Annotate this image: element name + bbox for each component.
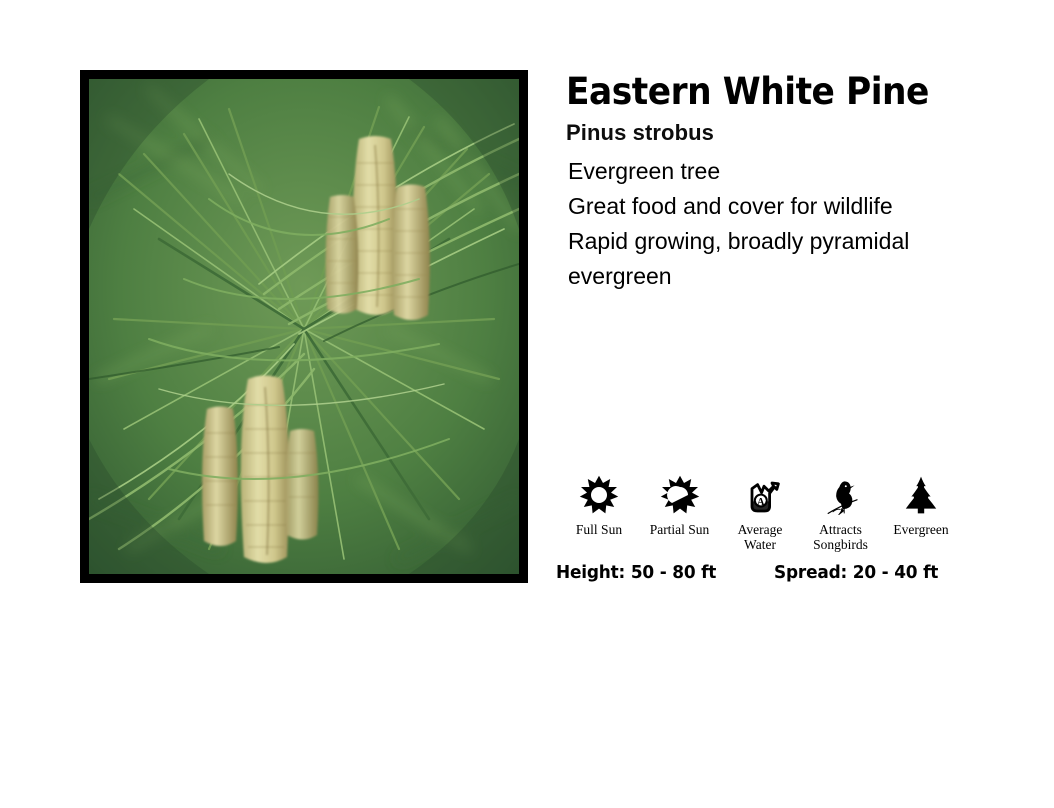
attribute-average-water: A A Average Water	[721, 472, 799, 552]
attribute-attracts-songbirds: Attracts Songbirds	[802, 472, 880, 552]
spread-value: Spread: 20 - 40 ft	[774, 562, 938, 583]
feature-item: ◆ Rapid growing, broadly pyramidal everg…	[566, 224, 996, 294]
feature-text: Long soft, green needles	[568, 298, 821, 302]
feature-item: ◆ Great food and cover for wildlife	[566, 189, 996, 224]
attribute-label: Partial Sun	[650, 522, 710, 537]
average-water-icon: A A	[740, 472, 780, 518]
feature-item: ◆ Evergreen tree	[566, 154, 996, 189]
attracts-songbirds-icon	[821, 472, 861, 518]
plant-common-name: Eastern White Pine	[566, 70, 966, 114]
plant-feature-list: ◆ Evergreen tree ◆ Great food and cover …	[566, 154, 996, 302]
attribute-evergreen: Evergreen	[882, 472, 960, 537]
feature-text: Rapid growing, broadly pyramidal evergre…	[568, 228, 909, 289]
plant-attribute-row: Full Sun Partial Sun A A Average Water	[560, 472, 960, 552]
plant-photo	[89, 79, 519, 574]
plant-info-panel: Eastern White Pine Pinus strobus ◆ Everg…	[566, 70, 996, 302]
evergreen-icon	[901, 472, 941, 518]
plant-botanical-name: Pinus strobus	[566, 118, 996, 148]
partial-sun-icon	[660, 472, 700, 518]
attribute-partial-sun: Partial Sun	[641, 472, 719, 537]
feature-text: Great food and cover for wildlife	[568, 193, 893, 219]
svg-text:A: A	[757, 497, 765, 508]
height-value: Height: 50 - 80 ft	[556, 562, 716, 583]
feature-text: Evergreen tree	[568, 158, 720, 184]
attribute-full-sun: Full Sun	[560, 472, 638, 537]
full-sun-icon	[579, 472, 619, 518]
attribute-label: Evergreen	[893, 522, 948, 537]
attribute-label: Average Water	[721, 522, 799, 552]
attribute-label: Attracts Songbirds	[813, 522, 868, 552]
feature-item: ◆ Long soft, green needles	[566, 294, 996, 302]
plant-photo-frame	[80, 70, 528, 583]
attribute-label: Full Sun	[576, 522, 622, 537]
